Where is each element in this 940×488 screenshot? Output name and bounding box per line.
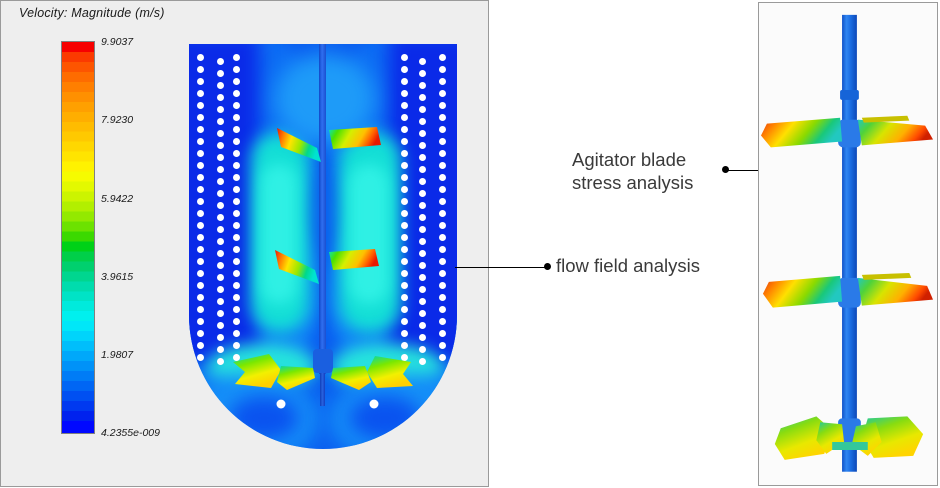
fea-blade-top-left [761,118,842,148]
fea-blade-top-right [858,120,933,146]
fea-hub-middle [838,278,861,308]
impeller-blade-middle-right [329,249,379,270]
colorbar-tick-2: 3.9615 [101,271,133,283]
fea-blade-bottom-strut [832,442,868,450]
velocity-colorbar: 9.9037 7.9230 5.9422 3.9615 1.9807 4.235… [61,41,95,434]
vessel-cross-section [189,44,457,449]
fea-blade-top-right-edge [862,116,909,123]
impeller-hub-bottom [313,349,333,373]
impeller-blade-bottom-left [233,354,281,388]
bottom-hole [277,400,286,409]
callout-flow-field: flow field analysis [556,254,700,277]
impeller-blade-upper-right [329,127,381,149]
fea-hub-top [838,120,861,148]
colorbar-tick-min: 4.2355e-009 [101,427,160,439]
impeller-vane-bottom-left [277,366,315,390]
fea-blade-middle-right [858,278,933,306]
colorbar-gradient [61,41,95,434]
colorbar-tick-1: 1.9807 [101,349,133,361]
fea-shaft-collar-top [840,90,859,100]
colorbar-tick-4: 7.9230 [101,114,133,126]
bottom-hole [370,400,379,409]
agitator-assembly-3d [759,3,937,482]
leader-dot-blade-stress [722,166,729,173]
impeller-blade-middle-left [275,250,319,284]
leader-dot-flow-field [544,263,551,270]
fea-shaft [842,15,857,472]
colorbar-tick-max: 9.9037 [101,36,133,48]
impeller-blade-upper-left [277,128,321,162]
cfd-result-panel: Velocity: Magnitude (m/s) 9.9037 7.9230 … [0,0,489,487]
fea-blade-middle-left [763,276,842,308]
velocity-contour-field [189,44,457,449]
colorbar-tick-3: 5.9422 [101,193,133,205]
fea-blade-middle-right-edge [862,273,911,280]
leader-line-flow-field [455,267,547,268]
impeller-vane-bottom-right [331,366,371,390]
fea-stress-panel [758,2,938,486]
impeller-blade-bottom-right [367,356,413,388]
cfd-plot-title: Velocity: Magnitude (m/s) [19,6,165,20]
impeller-blades-group [189,44,457,449]
callout-blade-stress: Agitator blade stress analysis [572,148,722,194]
